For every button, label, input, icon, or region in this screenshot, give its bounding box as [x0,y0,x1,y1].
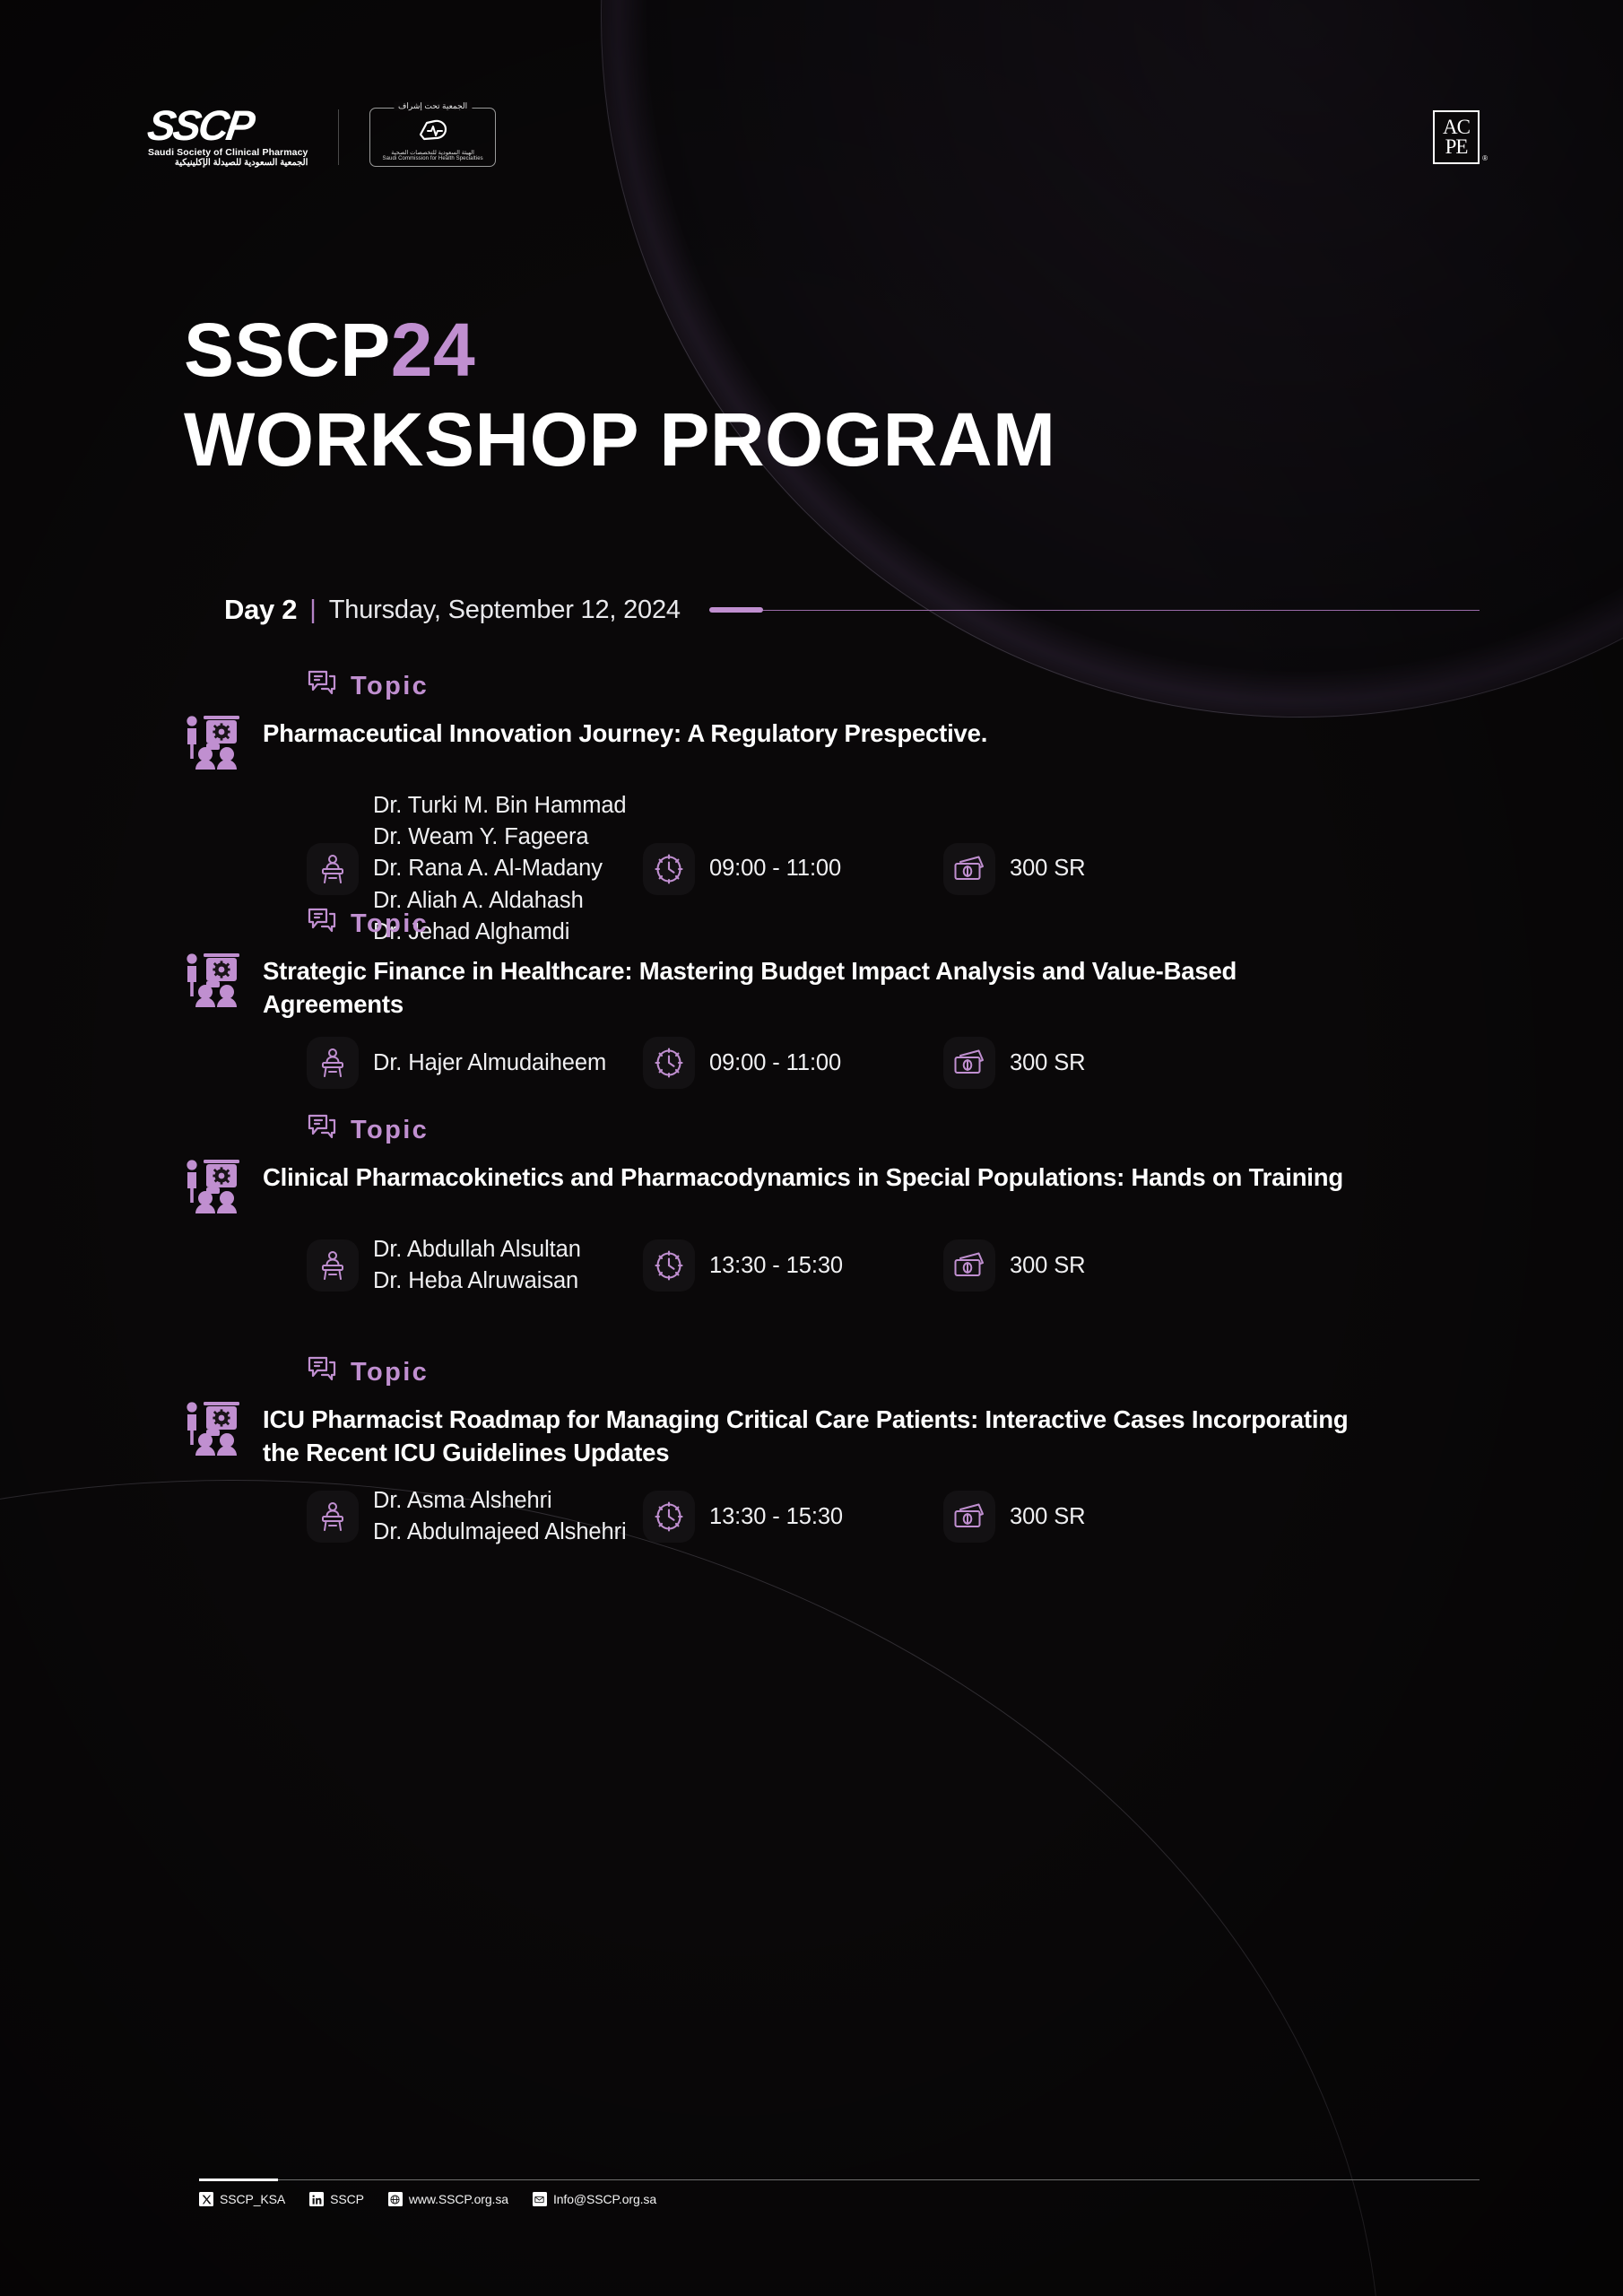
footer-divider [199,2179,1480,2181]
linkedin-icon [309,2192,324,2206]
footer-contact-item[interactable]: SSCP_KSA [199,2192,285,2206]
sscp-wordmark: SSCP [145,106,311,144]
email-icon [533,2192,547,2206]
acpe-letters-bottom: PE [1443,137,1470,156]
topic-row: Topic [307,1112,1480,1149]
schs-logo: الجمعية تحت إشراف الهيئة السعودية للتخصص… [369,108,495,167]
session-title-row: Strategic Finance in Healthcare: Masteri… [184,955,1480,1021]
session-time-text: 09:00 - 11:00 [709,853,841,884]
acpe-frame: AC PE [1433,110,1480,164]
footer-contact-label: Info@SSCP.org.sa [553,2192,656,2206]
footer-contact-label: SSCP_KSA [220,2192,285,2206]
topic-label: Topic [351,909,429,939]
schs-pulse-icon [417,118,449,146]
footer-contact-item[interactable]: SSCP [309,2192,364,2206]
title-sscp: SSCP [184,308,391,392]
money-icon [943,1239,995,1291]
title-line-one: SSCP24 [184,312,1055,387]
session-title: Pharmaceutical Innovation Journey: A Reg… [263,717,987,751]
podium-speaker-icon [307,843,359,895]
acpe-letters: AC PE [1443,117,1470,155]
podium-speaker-icon [307,1239,359,1291]
session-meta-row: Dr. Abdullah Alsultan Dr. Heba Alruwaisa… [307,1234,1480,1297]
session-block: Topic Clinical Pharmacokinetics and Phar… [0,1112,1623,1297]
topic-label: Topic [351,1358,429,1387]
sscp-subtitle-en: Saudi Society of Clinical Pharmacy [148,147,308,158]
session-speakers-item: Dr. Asma Alshehri Dr. Abdulmajeed Alsheh… [307,1485,643,1548]
presentation-icon [184,714,241,774]
clock-icon [643,1239,695,1291]
footer-contact-item[interactable]: Info@SSCP.org.sa [533,2192,656,2206]
podium-speaker-icon [307,1491,359,1543]
schs-name-ar: الهيئة السعودية للتخصصات الصحية [391,149,474,156]
session-time-item: 13:30 - 15:30 [643,1491,943,1543]
topic-row: Topic [307,906,1480,943]
session-time-text: 13:30 - 15:30 [709,1501,843,1533]
session-price-item: 300 SR [943,1037,1085,1089]
schs-name-en: Saudi Commission for Health Specialties [382,156,482,161]
session-title-row: Pharmaceutical Innovation Journey: A Reg… [184,717,1480,774]
schs-supervision-label: الجمعية تحت إشراف [394,101,472,111]
clock-icon [643,843,695,895]
bubble-decoration-bottom-left [0,1480,1381,2296]
footer-contact-list: SSCP_KSASSCPwww.SSCP.org.saInfo@SSCP.org… [199,2192,1480,2206]
session-time-text: 13:30 - 15:30 [709,1250,843,1282]
day-separator: | [309,596,317,625]
footer-contact-label: SSCP [330,2192,364,2206]
chat-bubble-icon [307,1354,339,1391]
session-meta-row: Dr. Asma Alshehri Dr. Abdulmajeed Alsheh… [307,1485,1480,1548]
session-title: Strategic Finance in Healthcare: Masteri… [263,955,1375,1021]
session-speakers-text: Dr. Asma Alshehri Dr. Abdulmajeed Alsheh… [373,1485,627,1548]
chat-bubble-icon [307,668,339,705]
session-speakers-text: Dr. Hajer Almudaiheem [373,1048,606,1079]
podium-speaker-icon [307,1037,359,1089]
acpe-logo: AC PE ® [1433,110,1480,164]
session-block: Topic ICU Pharmacist Roadmap for Managin… [0,1354,1623,1549]
session-price-item: 300 SR [943,1239,1085,1291]
poster-header: SSCP Saudi Society of Clinical Pharmacy … [0,106,1623,168]
topic-label: Topic [351,1116,429,1145]
session-title: ICU Pharmacist Roadmap for Managing Crit… [263,1404,1375,1469]
sscp-subtitle-ar: الجمعية السعودية للصيدلة الإكلينيكية [148,158,308,168]
day-accent-rule [709,610,1480,611]
acpe-letters-top: AC [1443,117,1470,136]
x-twitter-icon [199,2192,213,2206]
session-price-text: 300 SR [1010,1250,1085,1282]
session-price-text: 300 SR [1010,853,1085,884]
logo-group: SSCP Saudi Society of Clinical Pharmacy … [148,106,496,168]
presentation-icon [184,952,241,1012]
sscp-logo: SSCP Saudi Society of Clinical Pharmacy … [148,106,308,168]
topic-row: Topic [307,668,1480,705]
session-meta-row: Dr. Hajer Almudaiheem 09:00 - 11:00 300 … [307,1037,1480,1089]
session-block: Topic Strategic Finance in Healthcare: M… [0,906,1623,1089]
presentation-icon [184,1400,241,1460]
clock-icon [643,1037,695,1089]
session-price-item: 300 SR [943,843,1085,895]
globe-icon [388,2192,403,2206]
session-title-row: Clinical Pharmacokinetics and Pharmacody… [184,1161,1480,1218]
footer-contact-item[interactable]: www.SSCP.org.sa [388,2192,508,2206]
session-price-text: 300 SR [1010,1048,1085,1079]
topic-label: Topic [351,672,429,701]
session-speakers-text: Dr. Abdullah Alsultan Dr. Heba Alruwaisa… [373,1234,581,1297]
topic-row: Topic [307,1354,1480,1391]
presentation-icon [184,1158,241,1218]
session-time-item: 09:00 - 11:00 [643,1037,943,1089]
clock-icon [643,1491,695,1543]
chat-bubble-icon [307,906,339,943]
session-time-text: 09:00 - 11:00 [709,1048,841,1079]
day-date: Thursday, September 12, 2024 [329,596,681,625]
session-speakers-item: Dr. Hajer Almudaiheem [307,1037,643,1089]
session-speakers-item: Dr. Abdullah Alsultan Dr. Heba Alruwaisa… [307,1234,643,1297]
footer-contact-label: www.SSCP.org.sa [409,2192,508,2206]
poster-footer: SSCP_KSASSCPwww.SSCP.org.saInfo@SSCP.org… [199,2179,1480,2207]
chat-bubble-icon [307,1112,339,1149]
day-label: Day 2 [224,594,297,626]
session-time-item: 09:00 - 11:00 [643,843,943,895]
money-icon [943,843,995,895]
session-title: Clinical Pharmacokinetics and Pharmacody… [263,1161,1343,1195]
session-title-row: ICU Pharmacist Roadmap for Managing Crit… [184,1404,1480,1469]
money-icon [943,1037,995,1089]
acpe-registered-mark: ® [1482,154,1488,162]
session-price-text: 300 SR [1010,1501,1085,1533]
title-year-accent: 24 [391,308,475,392]
logo-divider [338,109,339,165]
money-icon [943,1491,995,1543]
session-price-item: 300 SR [943,1491,1085,1543]
page-title: SSCP24 WORKSHOP PROGRAM [184,312,1055,477]
bubble-rim-bottom-left [0,1480,1381,2296]
day-bar: Day 2 | Thursday, September 12, 2024 [224,594,1480,626]
poster-canvas: SSCP Saudi Society of Clinical Pharmacy … [0,0,1623,2296]
title-line-two: WORKSHOP PROGRAM [184,402,1055,477]
session-time-item: 13:30 - 15:30 [643,1239,943,1291]
